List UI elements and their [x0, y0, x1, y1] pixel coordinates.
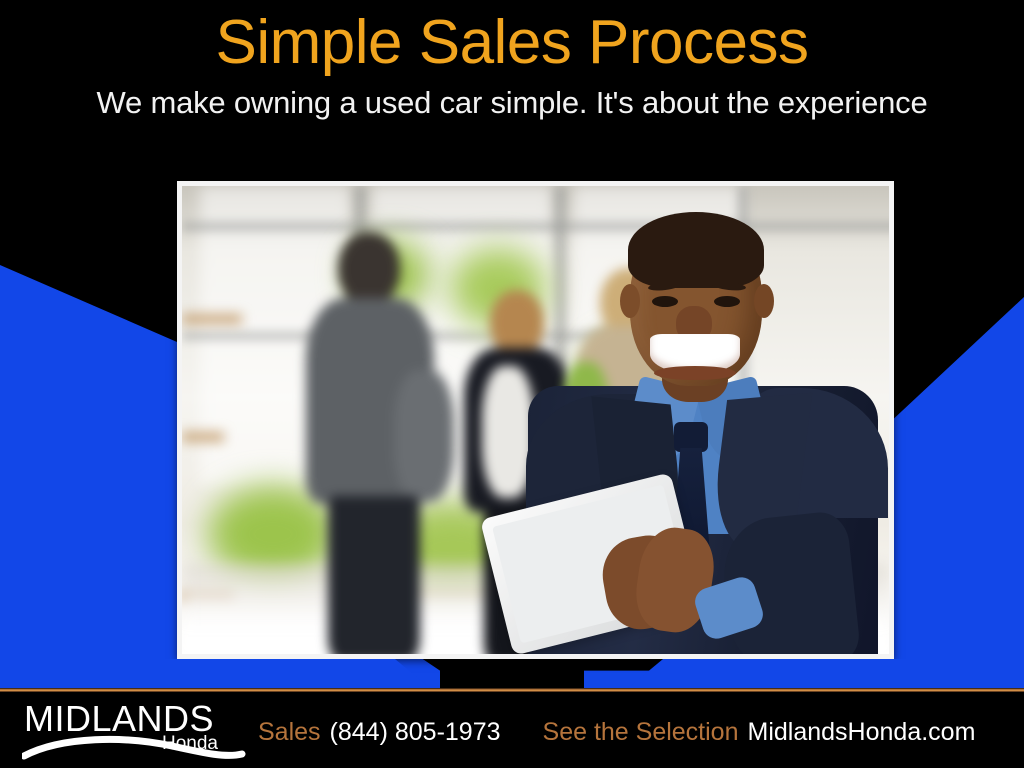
sales-label: Sales — [258, 717, 321, 747]
page-subtitle: We make owning a used car simple. It's a… — [0, 84, 1024, 122]
website-url[interactable]: MidlandsHonda.com — [748, 717, 976, 747]
ear-right — [754, 284, 774, 318]
ear-left — [620, 284, 640, 318]
necktie-knot — [674, 422, 708, 452]
wood-trim — [182, 314, 242, 324]
footer-bar: MIDLANDS Honda Sales (844) 805-1973 See … — [0, 692, 1024, 768]
advertisement-canvas: Simple Sales Process We make owning a us… — [0, 0, 1024, 768]
eye-left — [652, 296, 678, 307]
hero-photo — [182, 186, 889, 654]
see-the-selection-label: See the Selection — [543, 717, 739, 747]
hero-photo-frame — [177, 181, 894, 659]
midlands-honda-logo[interactable]: MIDLANDS Honda — [22, 700, 252, 762]
lower-lip — [654, 366, 736, 380]
background-person-gray-suit — [290, 220, 450, 650]
header-block: Simple Sales Process We make owning a us… — [0, 0, 1024, 160]
logo-swoosh-icon — [22, 730, 252, 762]
sales-phone-number[interactable]: (844) 805-1973 — [330, 717, 501, 747]
footer-contact-strip: Sales (844) 805-1973 See the Selection M… — [258, 712, 975, 752]
eye-right — [714, 296, 740, 307]
page-title: Simple Sales Process — [0, 8, 1024, 78]
wood-trim — [182, 432, 224, 442]
hair — [628, 212, 764, 288]
foreground-salesman — [512, 198, 889, 654]
